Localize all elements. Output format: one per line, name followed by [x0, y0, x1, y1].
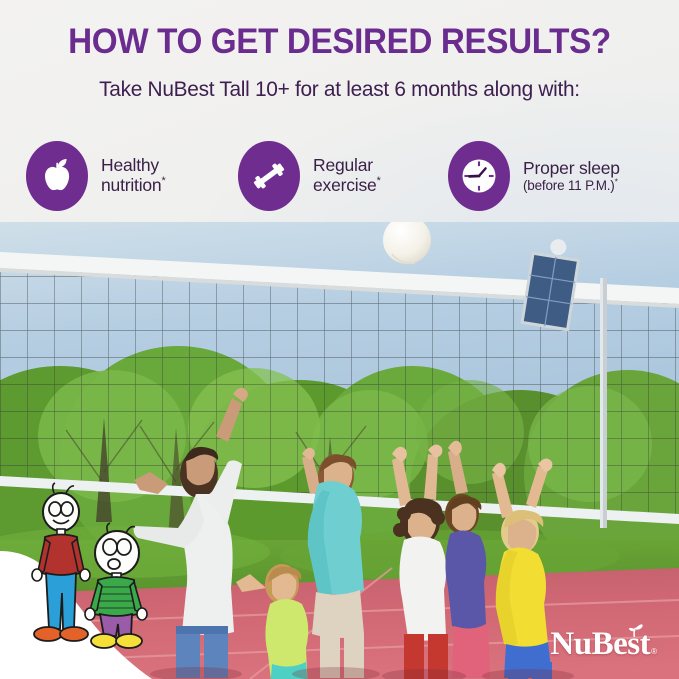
footnote-marker: * [377, 175, 381, 187]
nubest-logo: NuBest ® [550, 628, 657, 661]
benefit-line1: Regular [313, 156, 381, 176]
benefit-item-nutrition: Healthy nutrition* [26, 139, 166, 213]
benefit-label-nutrition: Healthy nutrition* [101, 156, 166, 195]
benefit-item-sleep: Proper sleep (before 11 P.M.)* [448, 139, 620, 213]
benefit-label-exercise: Regular exercise* [313, 156, 381, 195]
footnote-marker: * [615, 177, 618, 187]
benefit-line2: exercise* [313, 176, 381, 196]
dumbbell-icon [238, 141, 300, 211]
benefit-sub: (before 11 P.M.)* [523, 178, 620, 193]
benefit-line1: Healthy [101, 156, 166, 176]
leaf-sprout-icon [626, 623, 643, 638]
header-panel: HOW TO GET DESIRED RESULTS? Take NuBest … [0, 0, 679, 222]
footnote-marker: * [161, 175, 165, 187]
clock-icon [448, 141, 510, 211]
page-title: HOW TO GET DESIRED RESULTS? [17, 24, 662, 59]
apple-icon [26, 141, 88, 211]
benefit-label-sleep: Proper sleep (before 11 P.M.)* [523, 159, 620, 194]
benefit-line1: Proper sleep [523, 159, 620, 179]
benefit-item-exercise: Regular exercise* [238, 139, 381, 213]
registered-trademark-icon: ® [651, 648, 657, 656]
benefits-row: Healthy nutrition* [26, 139, 666, 213]
benefit-line2: nutrition* [101, 176, 166, 196]
nubest-infographic-poster: HOW TO GET DESIRED RESULTS? Take NuBest … [0, 0, 679, 679]
mascot-group [0, 479, 230, 679]
page-subtitle: Take NuBest Tall 10+ for at least 6 mont… [10, 79, 669, 101]
